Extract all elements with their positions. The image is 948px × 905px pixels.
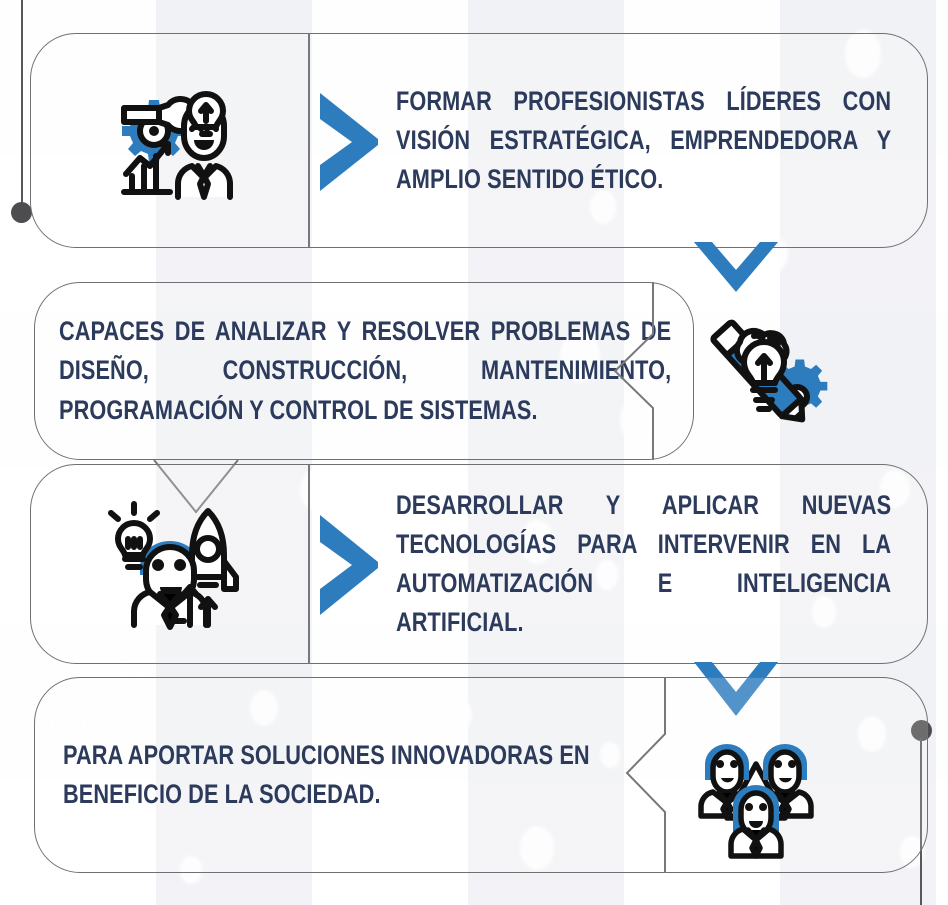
card-problem-solving-text: CAPACES DE ANALIZAR Y RESOLVER PROBLEMAS… <box>59 312 671 430</box>
card-society-text: PARA APORTAR SOLUCIONES INNOVADORAS EN B… <box>63 736 703 814</box>
innovator-lightbulb-rocket-growth-icon <box>104 501 236 627</box>
professional-with-lightbulb-gear-chart-icon <box>106 82 234 200</box>
card-vision-icon-cell <box>31 34 308 247</box>
card-new-technologies-text: DESARROLLAR Y APLICAR NUEVAS TECNOLOGÍAS… <box>396 486 891 643</box>
infographic-canvas: FORMAR PROFESIONISTAS LÍDERES CON VISIÓN… <box>0 0 948 905</box>
card-vision[interactable]: FORMAR PROFESIONISTAS LÍDERES CON VISIÓN… <box>30 33 928 248</box>
flow-rail-top-left <box>21 0 23 204</box>
card-new-technologies[interactable]: DESARROLLAR Y APLICAR NUEVAS TECNOLOGÍAS… <box>30 464 928 664</box>
connector-chevron-down-icon-1 <box>690 240 782 305</box>
card-vision-text: FORMAR PROFESIONISTAS LÍDERES CON VISIÓN… <box>396 82 891 200</box>
card-problem-solving[interactable]: CAPACES DE ANALIZAR Y RESOLVER PROBLEMAS… <box>34 282 694 460</box>
card-new-technologies-icon-cell <box>31 465 308 663</box>
brain-lightbulb-pencil-gear-icon <box>696 312 826 436</box>
card-society-icon-cell <box>690 732 822 860</box>
flow-start-dot <box>11 202 32 223</box>
team-group-people-icon <box>693 734 819 858</box>
card-problem-solving-icon-cell <box>688 306 834 442</box>
